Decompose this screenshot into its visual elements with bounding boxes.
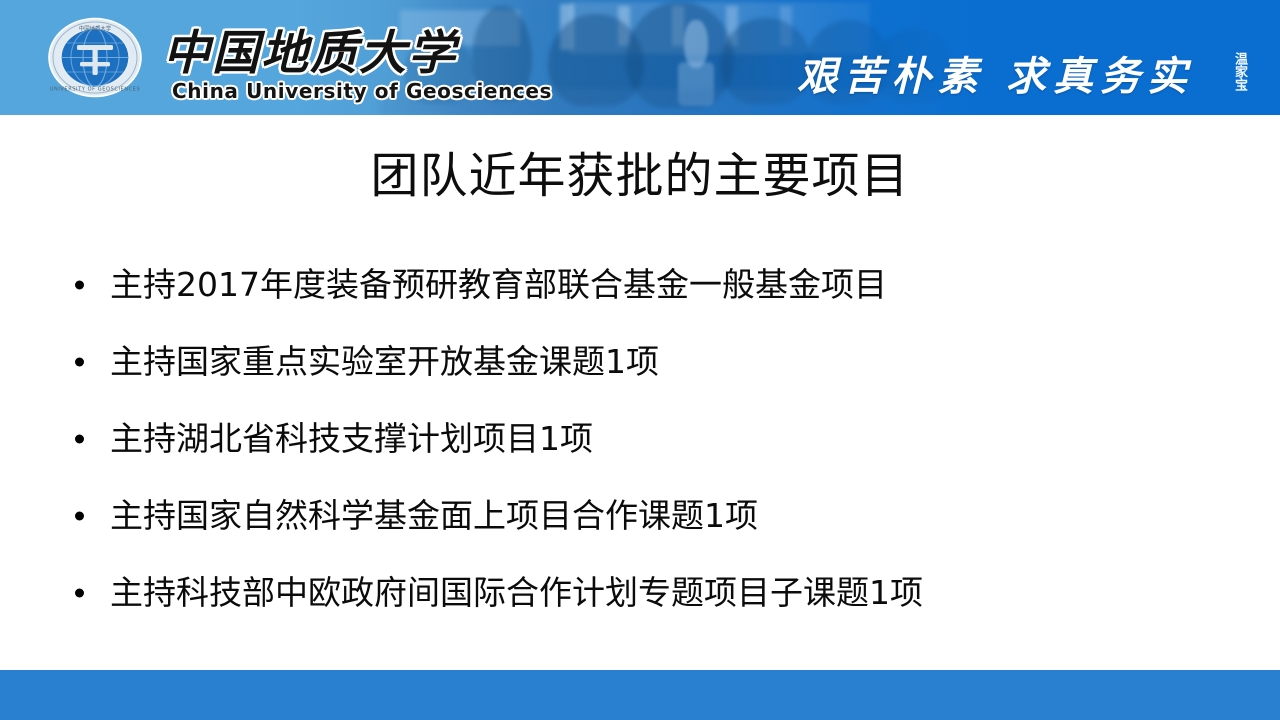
bullet-dot-icon bbox=[75, 280, 84, 289]
list-item-label: 主持国家自然科学基金面上项目合作课题1项 bbox=[110, 496, 758, 536]
list-item: 主持2017年度装备预研教育部联合基金一般基金项目 bbox=[62, 246, 1222, 323]
list-item-label: 主持科技部中欧政府间国际合作计划专题项目子课题1项 bbox=[110, 573, 923, 613]
svg-text:中国地质大学: 中国地质大学 bbox=[79, 25, 112, 33]
list-item-label: 主持湖北省科技支撑计划项目1项 bbox=[110, 419, 593, 459]
motto-signature: 温家宝 bbox=[1226, 52, 1246, 91]
slide-header-banner: 中国地质大学 UNIVERSITY OF GEOSCIENCES 中国地质大学 … bbox=[0, 0, 1280, 115]
university-motto: 艰苦朴素 求真务实 bbox=[797, 44, 1194, 102]
list-item-label: 主持国家重点实验室开放基金课题1项 bbox=[110, 342, 659, 382]
list-item: 主持国家重点实验室开放基金课题1项 bbox=[62, 323, 1222, 400]
svg-text:UNIVERSITY OF GEOSCIENCES: UNIVERSITY OF GEOSCIENCES bbox=[50, 87, 141, 93]
bullet-dot-icon bbox=[75, 511, 84, 520]
university-crest-icon: 中国地质大学 UNIVERSITY OF GEOSCIENCES bbox=[47, 17, 143, 98]
presentation-slide: 中国地质大学 UNIVERSITY OF GEOSCIENCES 中国地质大学 … bbox=[0, 0, 1280, 720]
bullet-dot-icon bbox=[75, 588, 84, 597]
list-item-label: 主持2017年度装备预研教育部联合基金一般基金项目 bbox=[110, 265, 887, 305]
list-item: 主持国家自然科学基金面上项目合作课题1项 bbox=[62, 477, 1222, 554]
bullet-list: 主持2017年度装备预研教育部联合基金一般基金项目 主持国家重点实验室开放基金课… bbox=[62, 246, 1222, 631]
page-title: 团队近年获批的主要项目 bbox=[0, 147, 1280, 205]
university-name-en: China University of Geosciences bbox=[172, 79, 552, 103]
bullet-dot-icon bbox=[75, 357, 84, 366]
bullet-dot-icon bbox=[75, 434, 84, 443]
list-item: 主持科技部中欧政府间国际合作计划专题项目子课题1项 bbox=[62, 554, 1222, 631]
list-item: 主持湖北省科技支撑计划项目1项 bbox=[62, 400, 1222, 477]
slide-footer-bar bbox=[0, 670, 1280, 720]
university-name-cn: 中国地质大学 bbox=[163, 14, 457, 83]
